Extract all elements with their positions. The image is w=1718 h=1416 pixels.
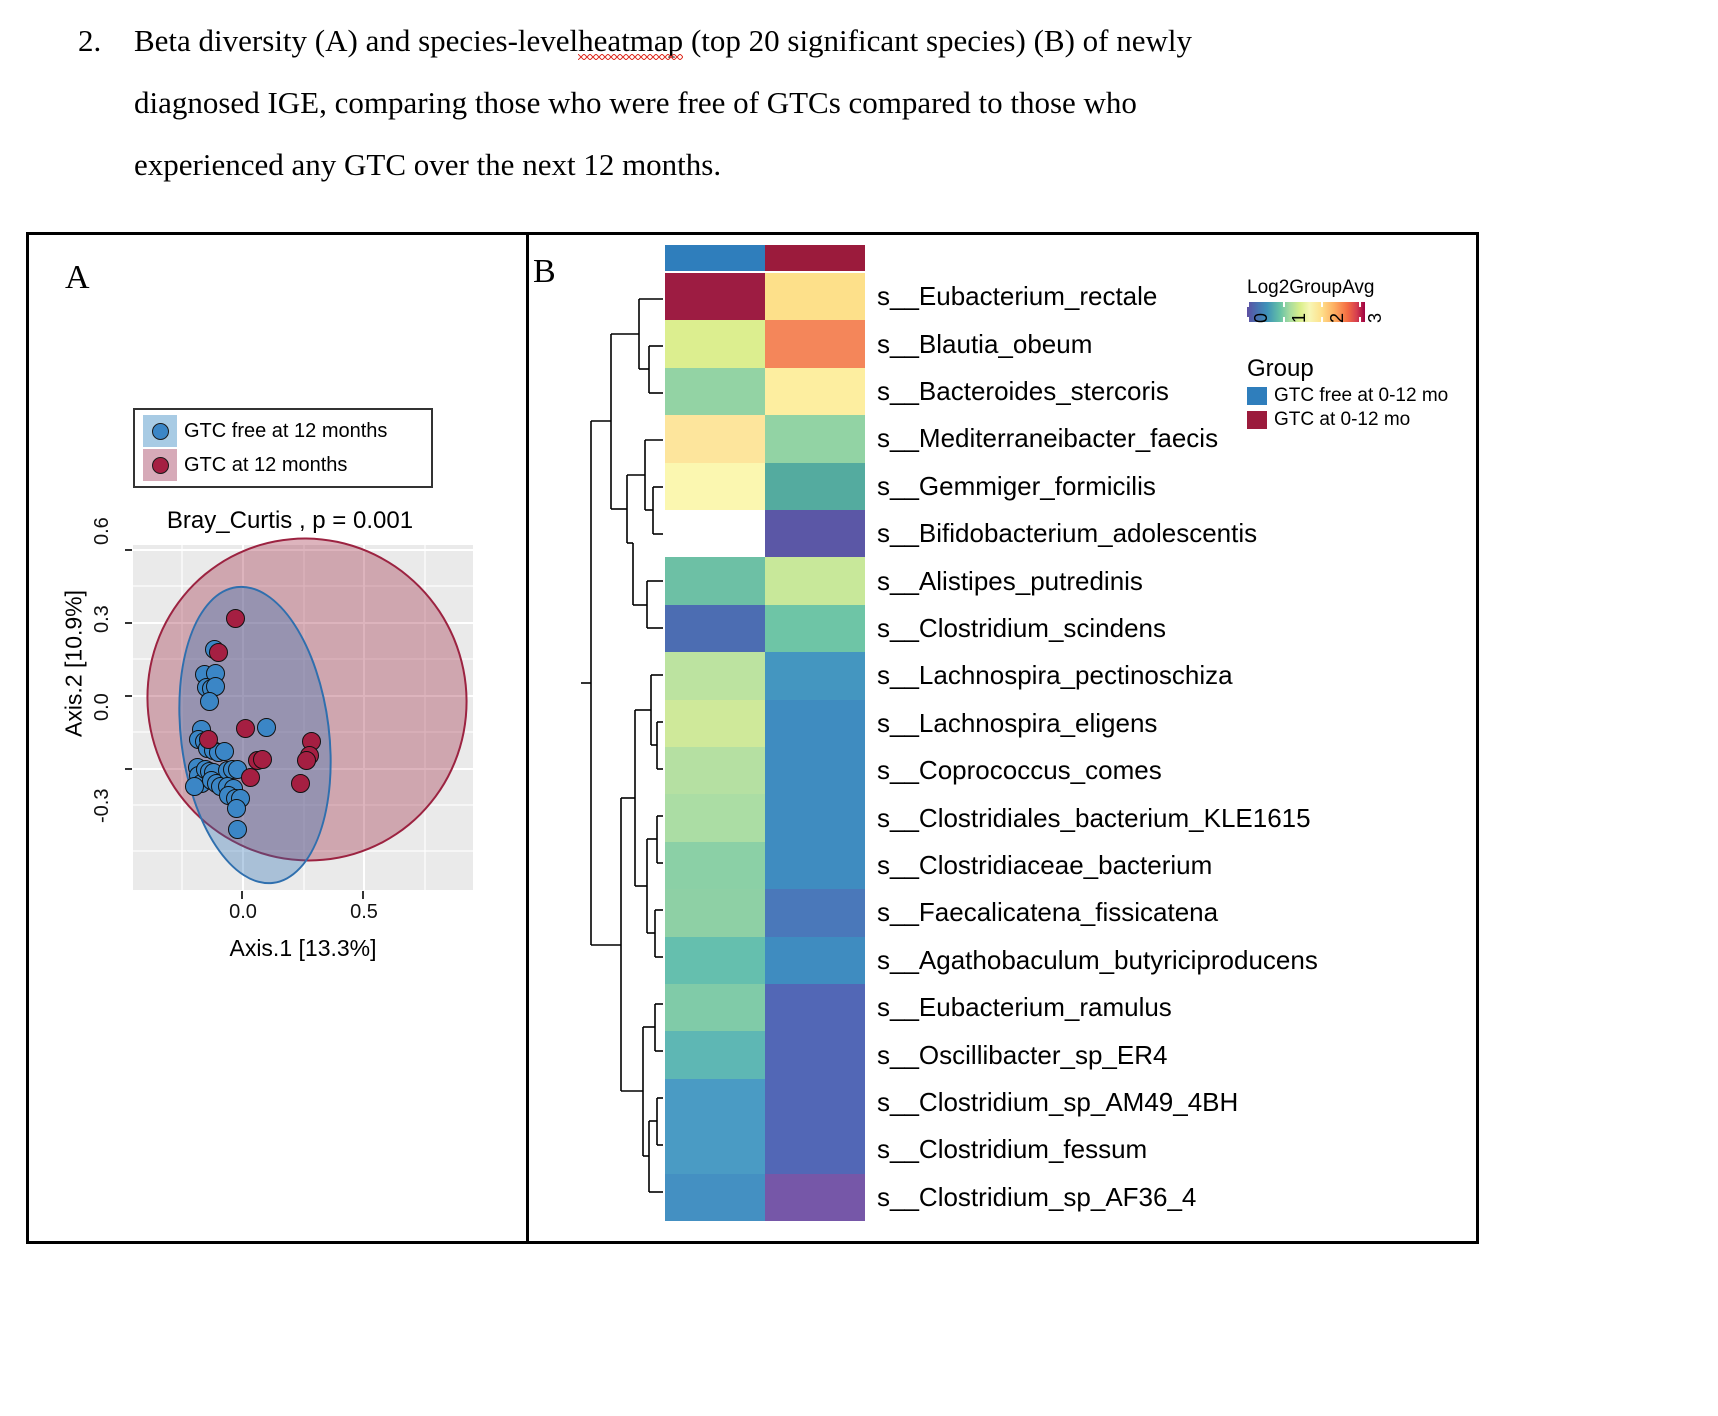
heatmap-cell (665, 1031, 765, 1078)
caption-text-a: Beta diversity (A) and species-level (134, 23, 578, 58)
heatmap-cell (665, 320, 765, 367)
caption-misspelled-word: heatmap (578, 23, 683, 58)
caption-text-c: (top 20 significant species) (B) of newl… (683, 23, 1192, 58)
heatmap-cell (765, 700, 865, 747)
y-tickmark-3 (125, 768, 132, 770)
legend-swatch-gtc (143, 449, 177, 481)
group-legend-title: Group (1247, 355, 1477, 383)
panel-a-title: Bray_Curtis , p = 0.001 (125, 507, 455, 535)
group-label-gtc-free: GTC free at 0-12 mo (1274, 385, 1448, 407)
heatmap-cell (665, 984, 765, 1031)
group-legend-item-gtc-free: GTC free at 0-12 mo (1247, 385, 1477, 407)
colorbar-tick-3 (1359, 301, 1361, 307)
row-dendrogram (577, 275, 663, 1220)
colorbar-tick-0 (1247, 301, 1249, 307)
group-swatch-gtc-free (1247, 387, 1267, 405)
scatter-point-red (226, 609, 245, 628)
panel-a-beta-diversity: A GTC free at 12 months GTC at 12 months… (29, 235, 526, 1241)
caption-line-2-text: diagnosed IGE, comparing those who were … (134, 72, 1568, 134)
group-annotation-bar (665, 245, 865, 271)
colorbar-label-0: 0 (1251, 313, 1272, 323)
legend-item-gtc: GTC at 12 months (143, 448, 431, 482)
heatmap-row-label: s__Coprococcus_comes (877, 747, 1477, 794)
colorbar-label-1: 1 (1289, 313, 1310, 323)
legend-item-gtc-free: GTC free at 12 months (143, 414, 431, 448)
heatmap-row-label: s__Eubacterium_ramulus (877, 984, 1477, 1031)
colorbar-tick-2 (1321, 301, 1323, 307)
annotation-cell-0 (665, 245, 765, 271)
colorbar-tick-1 (1283, 301, 1285, 307)
heatmap-cell (765, 415, 865, 462)
heatmap-cell (665, 889, 765, 936)
y-tick-label-3: -0.3 (91, 789, 114, 823)
heatmap-row-label: s__Clostridium_scindens (877, 605, 1477, 652)
heatmap-cell (665, 1174, 765, 1221)
heatmap-cell (665, 700, 765, 747)
heatmap-cell (765, 557, 865, 604)
heatmap-row-label: s__Clostridiaceae_bacterium (877, 842, 1477, 889)
heatmap-cell (665, 415, 765, 462)
pcoa-plot-area (133, 545, 473, 890)
colorbar-tick-labels: 0 1 2 3 (1247, 323, 1375, 349)
scatter-point-red (209, 643, 228, 662)
heatmap-row-label: s__Alistipes_putredinis (877, 557, 1477, 604)
annotation-cell-1 (765, 245, 865, 271)
y-tickmark-0 (125, 549, 132, 551)
legend-label-gtc-free: GTC free at 12 months (184, 420, 387, 443)
heatmap-cell (665, 1126, 765, 1173)
heatmap-cell (665, 842, 765, 889)
x-tick-label-0: 0.0 (215, 901, 271, 924)
scatter-point-red (291, 774, 310, 793)
scatter-point-red (199, 730, 218, 749)
heatmap-cell (765, 1031, 865, 1078)
panel-a-letter: A (65, 259, 90, 297)
legend-swatch-gtc-free (143, 415, 177, 447)
heatmap-row-label: s__Clostridium_sp_AF36_4 (877, 1174, 1477, 1221)
group-legend-item-gtc: GTC at 0-12 mo (1247, 409, 1477, 431)
x-axis-label: Axis.1 [13.3%] (133, 935, 473, 962)
scatter-point-red (236, 719, 255, 738)
heatmap-cell (765, 794, 865, 841)
panel-b-legends: Log2GroupAvg 0 1 2 3 Group GTC free a (1247, 277, 1477, 431)
legend-label-gtc: GTC at 12 months (184, 454, 347, 477)
y-tick-label-0: 0.6 (91, 517, 114, 545)
figure-caption: 2. Beta diversity (A) and species-levelh… (0, 0, 1718, 218)
group-swatch-gtc (1247, 411, 1267, 429)
heatmap-cell (765, 1174, 865, 1221)
heatmap-cell (765, 320, 865, 367)
x-tickmark-0 (241, 891, 243, 899)
heatmap-cell (665, 937, 765, 984)
caption-line-3-text: experienced any GTC over the next 12 mon… (134, 134, 1568, 196)
legend-dot-gtc (152, 457, 169, 474)
heatmap-cell (765, 937, 865, 984)
heatmap-cell (665, 463, 765, 510)
heatmap-row-label: s__Agathobaculum_butyriciproducens (877, 937, 1477, 984)
caption-number: 2. (78, 10, 134, 72)
heatmap-cell (765, 984, 865, 1031)
heatmap-row-label: s__Clostridium_sp_AM49_4BH (877, 1079, 1477, 1126)
heatmap-row-label: s__Clostridium_fessum (877, 1126, 1477, 1173)
heatmap-cell (665, 605, 765, 652)
heatmap-row-label: s__Clostridiales_bacterium_KLE1615 (877, 794, 1477, 841)
colorbar-label-3: 3 (1365, 313, 1386, 323)
panel-b-letter: B (533, 253, 556, 291)
y-tick-label-1: 0.3 (91, 605, 114, 633)
y-tickmark-2 (125, 695, 132, 697)
caption-line-1-text: Beta diversity (A) and species-levelheat… (134, 10, 1568, 72)
heatmap-row-label: s__Bifidobacterium_adolescentis (877, 510, 1477, 557)
group-label-gtc: GTC at 0-12 mo (1274, 409, 1410, 431)
heatmap-row-label: s__Oscillibacter_sp_ER4 (877, 1031, 1477, 1078)
colorbar-label-2: 2 (1327, 313, 1348, 323)
panel-b-heatmap: B (529, 235, 1479, 1241)
heatmap-cell (665, 1079, 765, 1126)
caption-line-1: 2. Beta diversity (A) and species-levelh… (78, 10, 1568, 72)
heatmap-cell (765, 368, 865, 415)
heatmap-cell (665, 368, 765, 415)
heatmap-cell (765, 463, 865, 510)
x-tickmark-1 (362, 891, 364, 899)
x-tick-label-1: 0.5 (336, 901, 392, 924)
heatmap-grid (665, 273, 865, 1221)
heatmap-row-label: s__Gemmiger_formicilis (877, 463, 1477, 510)
heatmap-cell (765, 1126, 865, 1173)
heatmap-cell (665, 652, 765, 699)
colorbar-title: Log2GroupAvg (1247, 277, 1477, 299)
heatmap-cell (765, 747, 865, 794)
heatmap-cell (665, 794, 765, 841)
heatmap-cell (765, 889, 865, 936)
panel-a-legend: GTC free at 12 months GTC at 12 months (133, 408, 433, 488)
heatmap-row-label: s__Lachnospira_pectinoschiza (877, 652, 1477, 699)
heatmap-cell (765, 652, 865, 699)
caption-line-3: experienced any GTC over the next 12 mon… (78, 134, 1568, 196)
figure-container: A GTC free at 12 months GTC at 12 months… (26, 232, 1479, 1244)
scatter-point-red (241, 768, 260, 787)
caption-line-2: diagnosed IGE, comparing those who were … (78, 72, 1568, 134)
heatmap-cell (765, 510, 865, 557)
y-axis-label: Axis.2 [10.9%] (61, 519, 88, 809)
heatmap-cell (665, 273, 765, 320)
heatmap-row-label: s__Faecalicatena_fissicatena (877, 889, 1477, 936)
heatmap-cell (765, 605, 865, 652)
heatmap-cell (765, 273, 865, 320)
heatmap-cell (765, 842, 865, 889)
heatmap-cell (765, 1079, 865, 1126)
heatmap-cell (665, 557, 765, 604)
heatmap-cell (665, 510, 765, 557)
heatmap-row-label: s__Lachnospira_eligens (877, 700, 1477, 747)
heatmap-cell (665, 747, 765, 794)
scatter-point-blue (200, 692, 219, 711)
y-tickmark-1 (125, 622, 132, 624)
y-tick-label-2: 0.0 (91, 693, 114, 721)
legend-dot-gtc-free (152, 423, 169, 440)
